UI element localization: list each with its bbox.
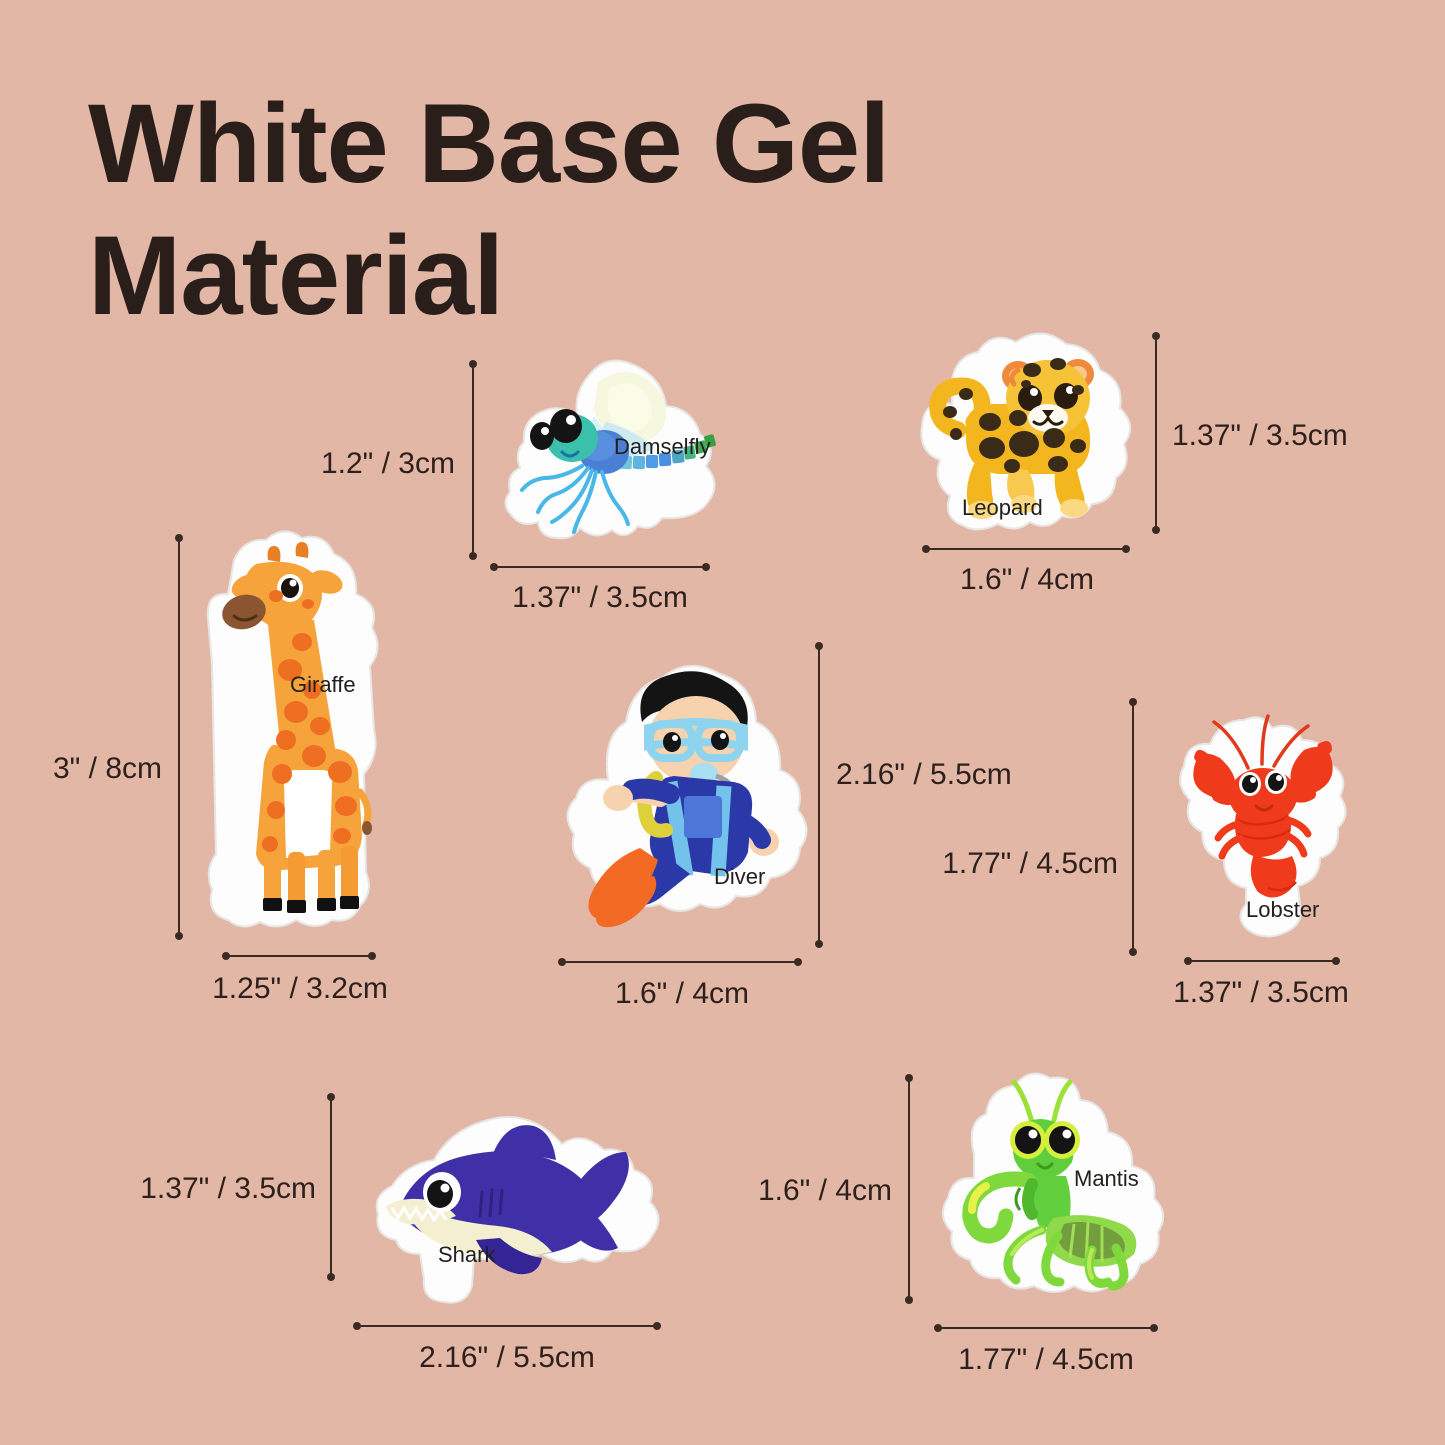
sticker-lobster[interactable]: Lobster <box>1168 692 1358 952</box>
sticker-leopard[interactable]: Leopard <box>906 318 1156 543</box>
lobster-height-line <box>1132 702 1134 952</box>
sticker-mantis[interactable]: Mantis <box>928 1058 1176 1308</box>
infographic-canvas: White Base Gel Material 1.2" / 3cm 1.37"… <box>0 0 1445 1445</box>
page-title: White Base Gel Material <box>88 78 1088 342</box>
mantis-width-label: 1.77" / 4.5cm <box>958 1343 1134 1377</box>
diver-width-line <box>562 961 798 963</box>
lobster-width-line <box>1188 960 1336 962</box>
sticker-shark[interactable]: Shark <box>358 1090 668 1320</box>
giraffe-belly <box>284 770 333 858</box>
giraffe-width-line <box>226 955 372 957</box>
diver-hand-left <box>603 785 633 811</box>
damselfly-width-label: 1.37" / 3.5cm <box>512 581 688 615</box>
damselfly-height-label: 1.2" / 3cm <box>321 447 455 481</box>
shark-height-line <box>330 1097 332 1277</box>
shark-width-label: 2.16" / 5.5cm <box>419 1341 595 1375</box>
mantis-height-line <box>908 1078 910 1300</box>
damselfly-eye-right <box>550 409 582 443</box>
damselfly-width-line <box>494 566 706 568</box>
leopard-width-line <box>926 548 1126 550</box>
giraffe-height-label: 3" / 8cm <box>53 752 162 786</box>
diver-height-label: 2.16" / 5.5cm <box>836 758 1012 792</box>
giraffe-width-label: 1.25" / 3.2cm <box>212 972 388 1006</box>
mantis-height-label: 1.6" / 4cm <box>758 1174 892 1208</box>
damselfly-eye-left <box>530 422 554 450</box>
diver-vest-panel <box>684 796 722 838</box>
lobster-width-label: 1.37" / 3.5cm <box>1173 976 1349 1010</box>
shark-height-label: 1.37" / 3.5cm <box>140 1172 316 1206</box>
sticker-damselfly[interactable]: Damselfly <box>486 352 726 557</box>
lobster-height-label: 1.77" / 4.5cm <box>942 847 1118 881</box>
shark-width-line <box>357 1325 657 1327</box>
sticker-giraffe[interactable]: Giraffe <box>186 524 402 944</box>
diver-width-label: 1.6" / 4cm <box>615 977 749 1011</box>
sticker-diver[interactable]: Diver <box>548 630 838 930</box>
leopard-width-label: 1.6" / 4cm <box>960 563 1094 597</box>
leopard-height-label: 1.37" / 3.5cm <box>1172 419 1348 453</box>
mantis-width-line <box>938 1327 1154 1329</box>
damselfly-height-line <box>472 364 474 556</box>
giraffe-height-line <box>178 538 180 936</box>
